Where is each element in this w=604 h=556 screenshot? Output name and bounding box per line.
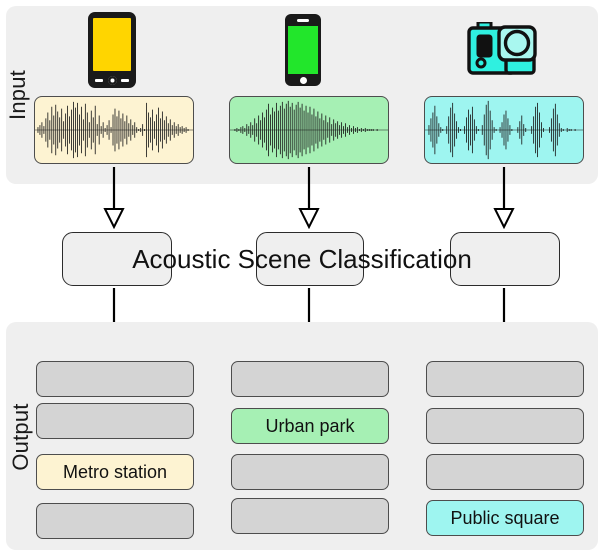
input-section-label: Input	[5, 65, 31, 125]
output-class-box[interactable]	[231, 454, 389, 490]
classifier-box[interactable]	[256, 232, 364, 286]
iphone-speaker	[297, 19, 309, 22]
action-camera-icon	[466, 22, 538, 76]
classifier-box[interactable]	[450, 232, 560, 286]
android-phone-left-key	[95, 79, 103, 82]
classifier-box[interactable]	[62, 232, 172, 286]
arrow-input-to-classifier	[103, 167, 125, 229]
android-phone-home-button	[108, 76, 117, 85]
audio-waveform-box	[34, 96, 194, 164]
output-class-box[interactable]	[426, 454, 584, 490]
output-class-box[interactable]	[36, 403, 194, 439]
android-phone-icon	[88, 12, 136, 88]
audio-waveform-box	[424, 96, 584, 164]
arrow-input-to-classifier	[298, 167, 320, 229]
output-class-box[interactable]	[36, 361, 194, 397]
output-class-box[interactable]: Metro station	[36, 454, 194, 490]
output-section-label: Output	[8, 401, 34, 473]
output-class-box[interactable]: Urban park	[231, 408, 389, 444]
output-class-box[interactable]	[231, 361, 389, 397]
iphone-icon	[285, 14, 321, 86]
output-class-box[interactable]: Public square	[426, 500, 584, 536]
iphone-home-button	[300, 77, 307, 84]
output-class-box[interactable]	[231, 498, 389, 534]
android-phone-screen	[93, 18, 131, 71]
android-phone-right-key	[121, 79, 129, 82]
output-class-box[interactable]	[426, 408, 584, 444]
diagram-canvas: Input	[0, 0, 604, 556]
arrow-input-to-classifier	[493, 167, 515, 229]
output-class-box[interactable]	[36, 503, 194, 539]
iphone-screen	[288, 26, 318, 74]
output-class-box[interactable]	[426, 361, 584, 397]
audio-waveform-box	[229, 96, 389, 164]
